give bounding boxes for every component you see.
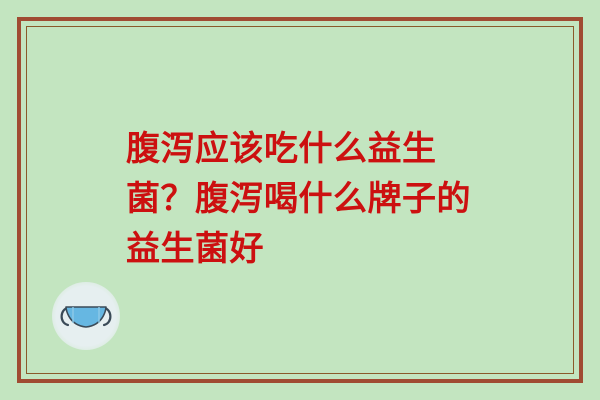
banner-canvas: 腹泻应该吃什么益生菌？腹泻喝什么牌子的益生菌好 (0, 0, 600, 400)
face-mask-icon (52, 282, 120, 350)
page-title: 腹泻应该吃什么益生菌？腹泻喝什么牌子的益生菌好 (126, 124, 488, 274)
face-mask-badge (52, 282, 120, 350)
